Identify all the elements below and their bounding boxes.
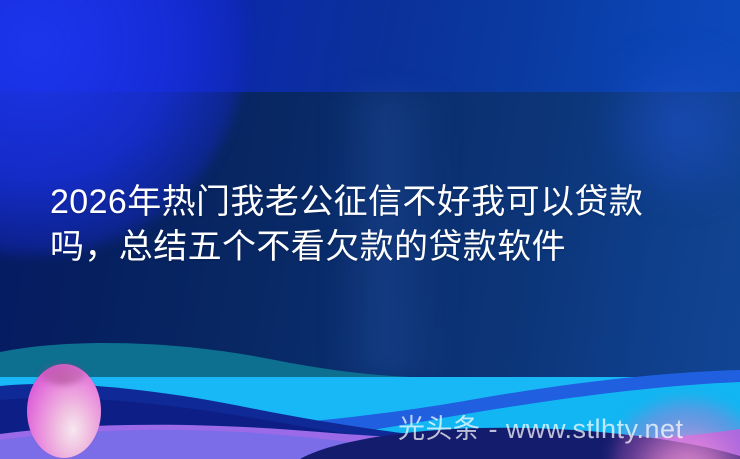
page-title: 2026年热门我老公征信不好我可以贷款吗，总结五个不看欠款的贷款软件 [50, 180, 700, 270]
pink-ellipse-shadow [40, 363, 86, 385]
blue-soft-glow-icon [612, 56, 740, 196]
promo-banner: 2026年热门我老公征信不好我可以贷款吗，总结五个不看欠款的贷款软件 光头条 -… [0, 0, 740, 459]
watermark: 光头条 - www.stlhty.net [398, 412, 684, 446]
